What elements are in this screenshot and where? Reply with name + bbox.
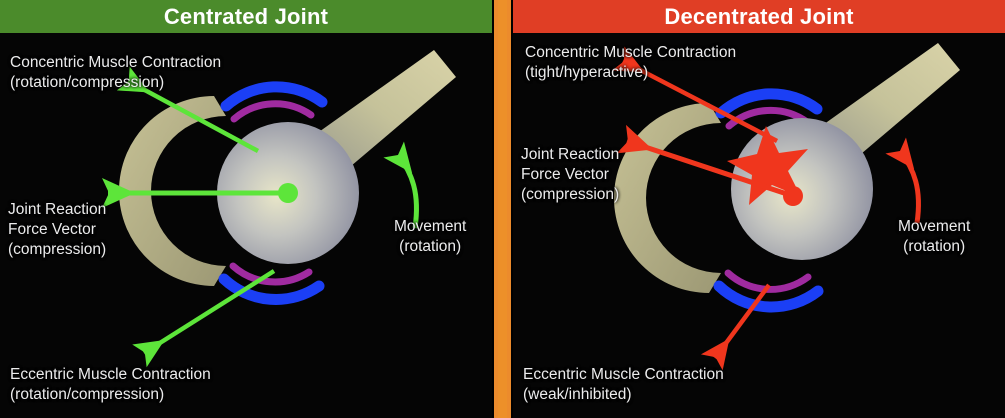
label-eccentric-centrated: Eccentric Muscle Contraction (rotation/c… <box>10 365 211 405</box>
header-title-decentrated: Decentrated Joint <box>664 6 853 28</box>
canvas-decentrated: Concentric Muscle Contraction (tight/hyp… <box>513 33 1005 418</box>
label-movement-decentrated: Movement (rotation) <box>898 217 970 257</box>
label-movement-centrated: Movement (rotation) <box>394 217 466 257</box>
panel-centrated-joint: Centrated Joint <box>0 0 492 418</box>
glenoid-socket <box>614 103 721 293</box>
header-title-centrated: Centrated Joint <box>164 6 328 28</box>
panel-divider <box>494 0 511 418</box>
label-eccentric-decentrated: Eccentric Muscle Contraction (weak/inhib… <box>523 365 724 405</box>
header-decentrated: Decentrated Joint <box>513 0 1005 33</box>
canvas-centrated: Concentric Muscle Contraction (rotation/… <box>0 33 492 418</box>
panel-divider-core <box>498 0 507 418</box>
rotation-center-dot <box>278 183 298 203</box>
rotation-center-dot <box>783 186 803 206</box>
panel-decentrated-joint: Decentrated Joint <box>513 0 1005 418</box>
label-joint-reaction-decentrated: Joint Reaction Force Vector (compression… <box>521 145 619 204</box>
label-joint-reaction-centrated: Joint Reaction Force Vector (compression… <box>8 200 106 259</box>
label-concentric-centrated: Concentric Muscle Contraction (rotation/… <box>10 53 221 93</box>
movement-rotation-arrow <box>900 151 918 223</box>
joint-centration-figure: Centrated Joint <box>0 0 1005 418</box>
label-concentric-decentrated: Concentric Muscle Contraction (tight/hyp… <box>525 43 736 83</box>
header-centrated: Centrated Joint <box>0 0 492 33</box>
